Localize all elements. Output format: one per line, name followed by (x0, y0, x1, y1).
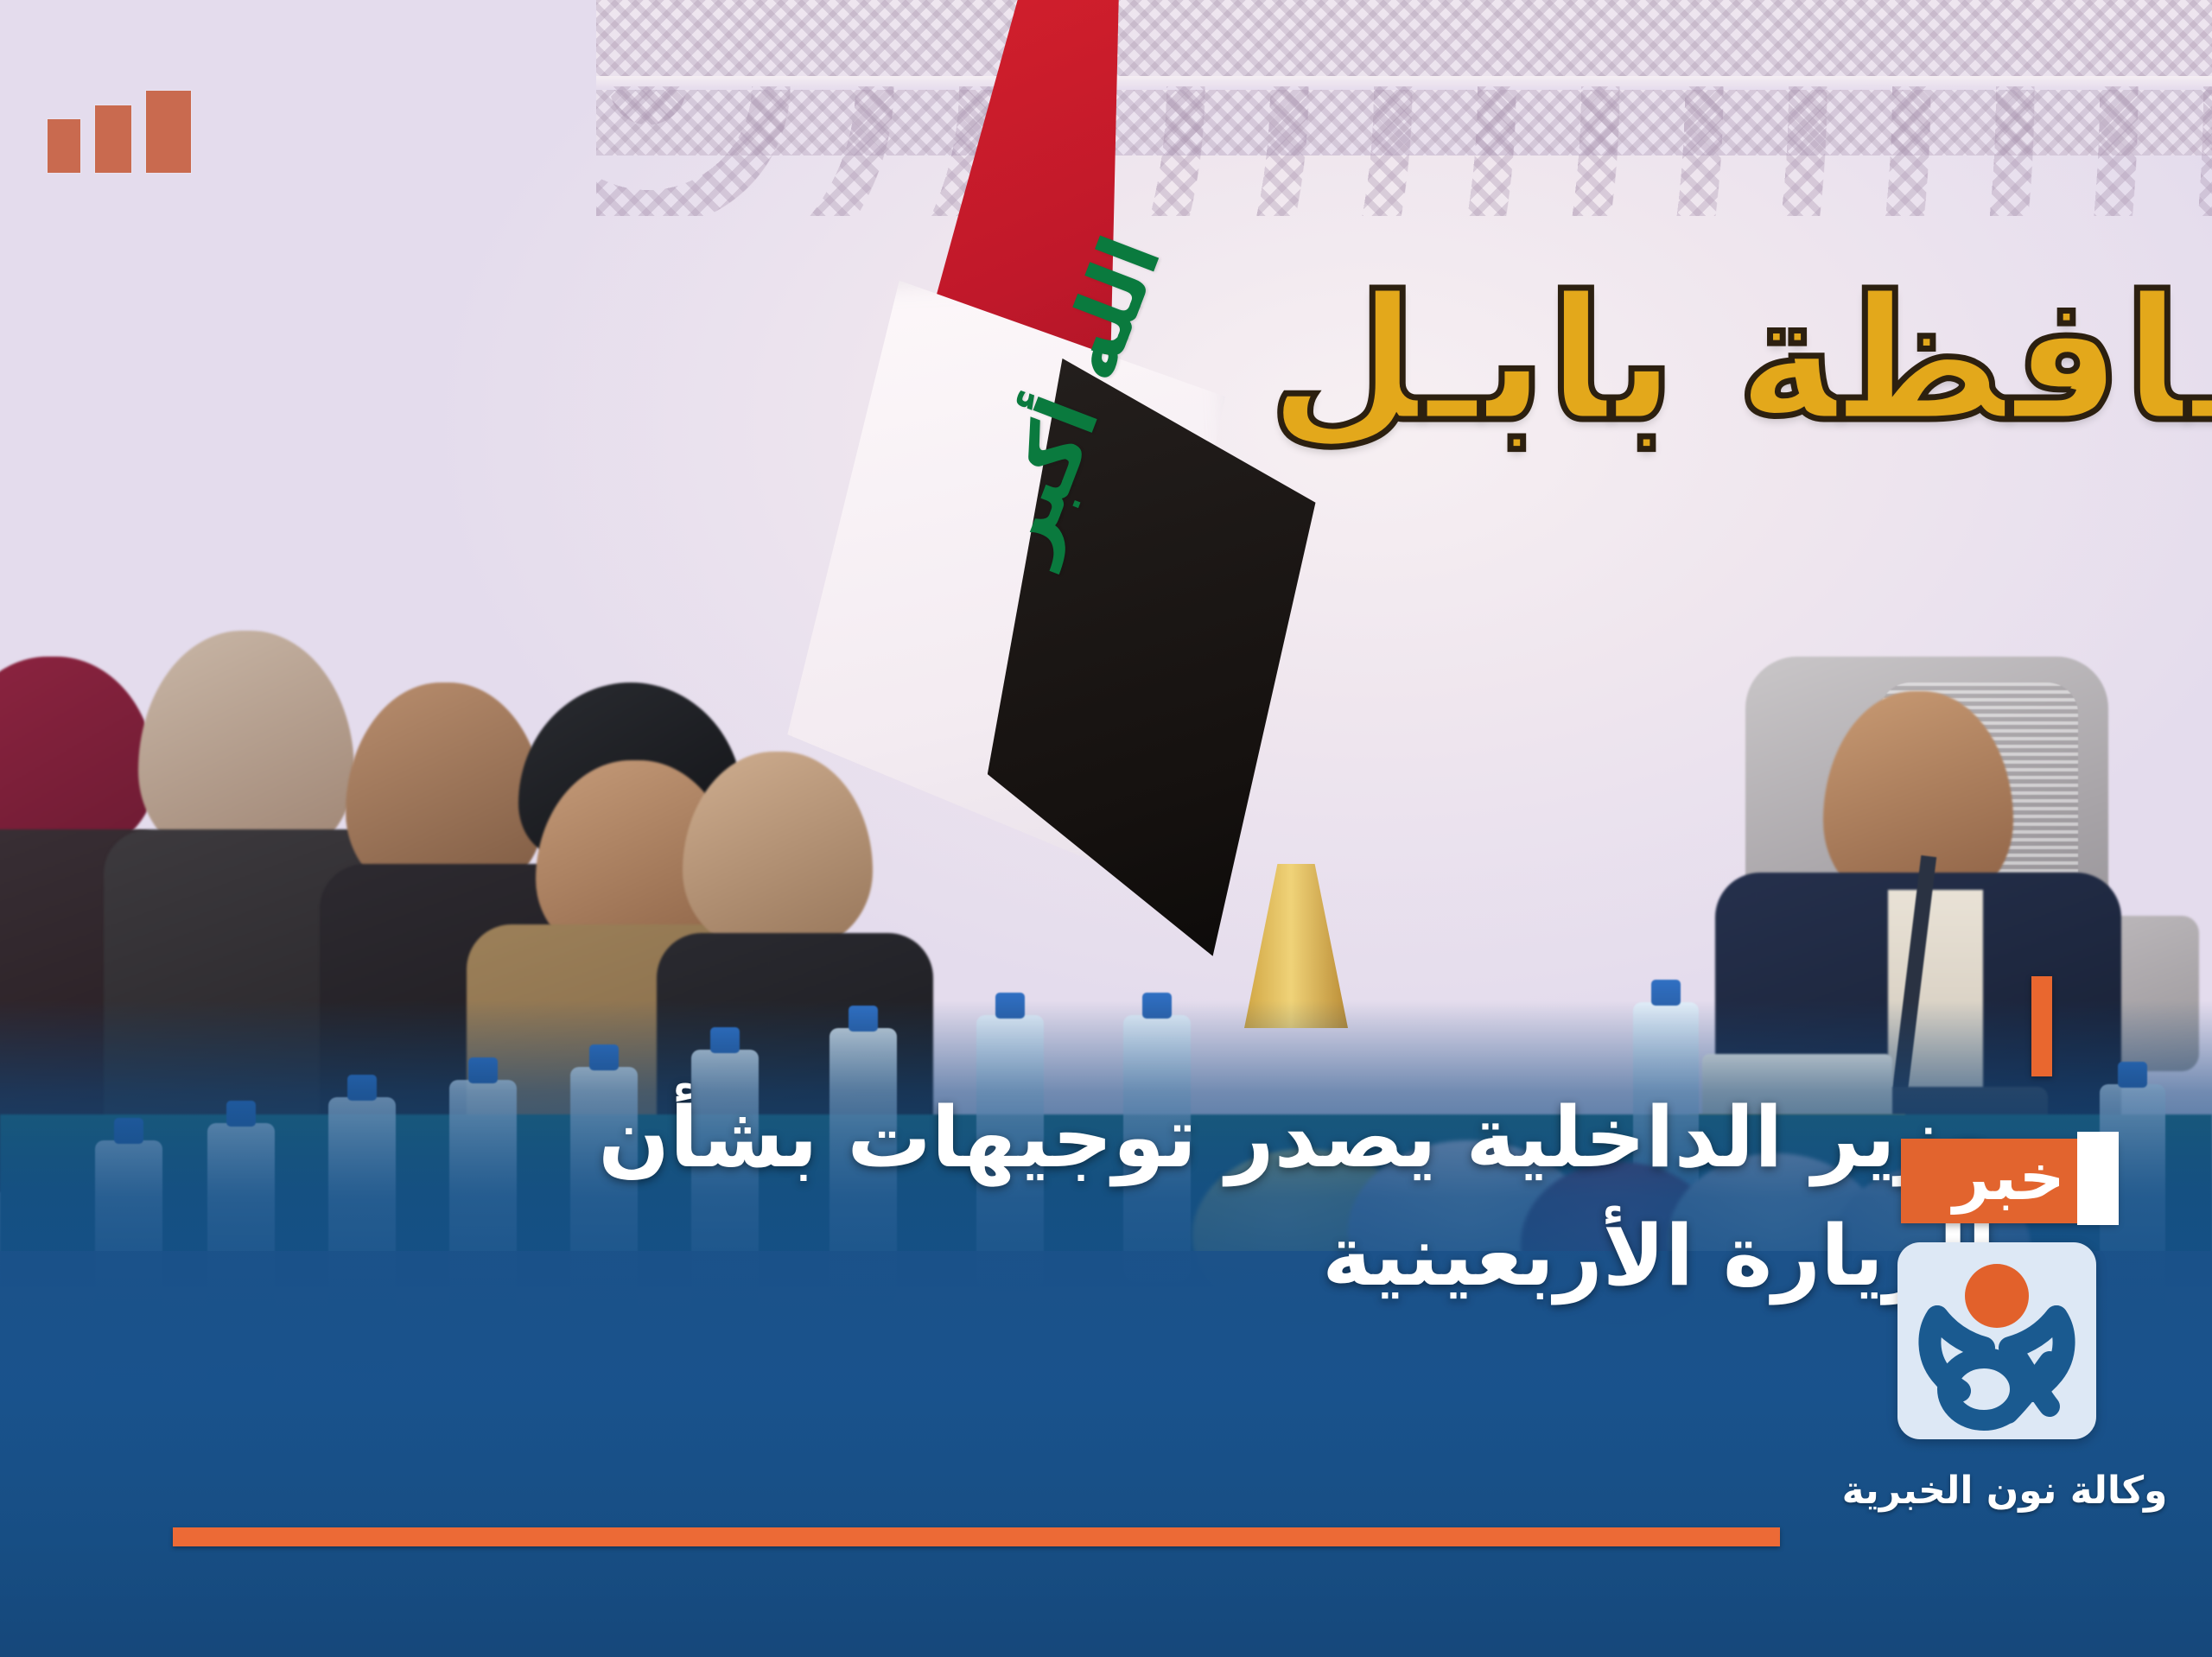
status-badge-label: خبر (1953, 1146, 2065, 1209)
news-graphic-card: ـافظة بابـل الله أكبر (0, 0, 2212, 1657)
headline-accent-bar (2031, 976, 2052, 1076)
logo-bar-2 (95, 105, 131, 173)
headline: وزير الداخلية يصدر توجيهات بشأن الزيارة … (397, 1078, 1996, 1316)
logo-bar-1 (146, 91, 191, 173)
noon-agency-logo-icon (1897, 1242, 2096, 1439)
three-bars-logo-icon (48, 91, 191, 173)
agency-name: وكالة نون الخبرية (1823, 1469, 2186, 1513)
agency-logo-card (1897, 1242, 2096, 1439)
headline-line-2: الزيارة الأربعينية (397, 1197, 1996, 1316)
logo-bar-3 (48, 119, 80, 173)
background-photo: ـافظة بابـل الله أكبر (0, 0, 2212, 1657)
headline-line-1: وزير الداخلية يصدر توجيهات بشأن (397, 1078, 1996, 1197)
orange-divider-rule (173, 1527, 1780, 1546)
badge-white-tab (2077, 1132, 2119, 1225)
wall-sign-text: ـافظة بابـل (1268, 259, 2212, 460)
